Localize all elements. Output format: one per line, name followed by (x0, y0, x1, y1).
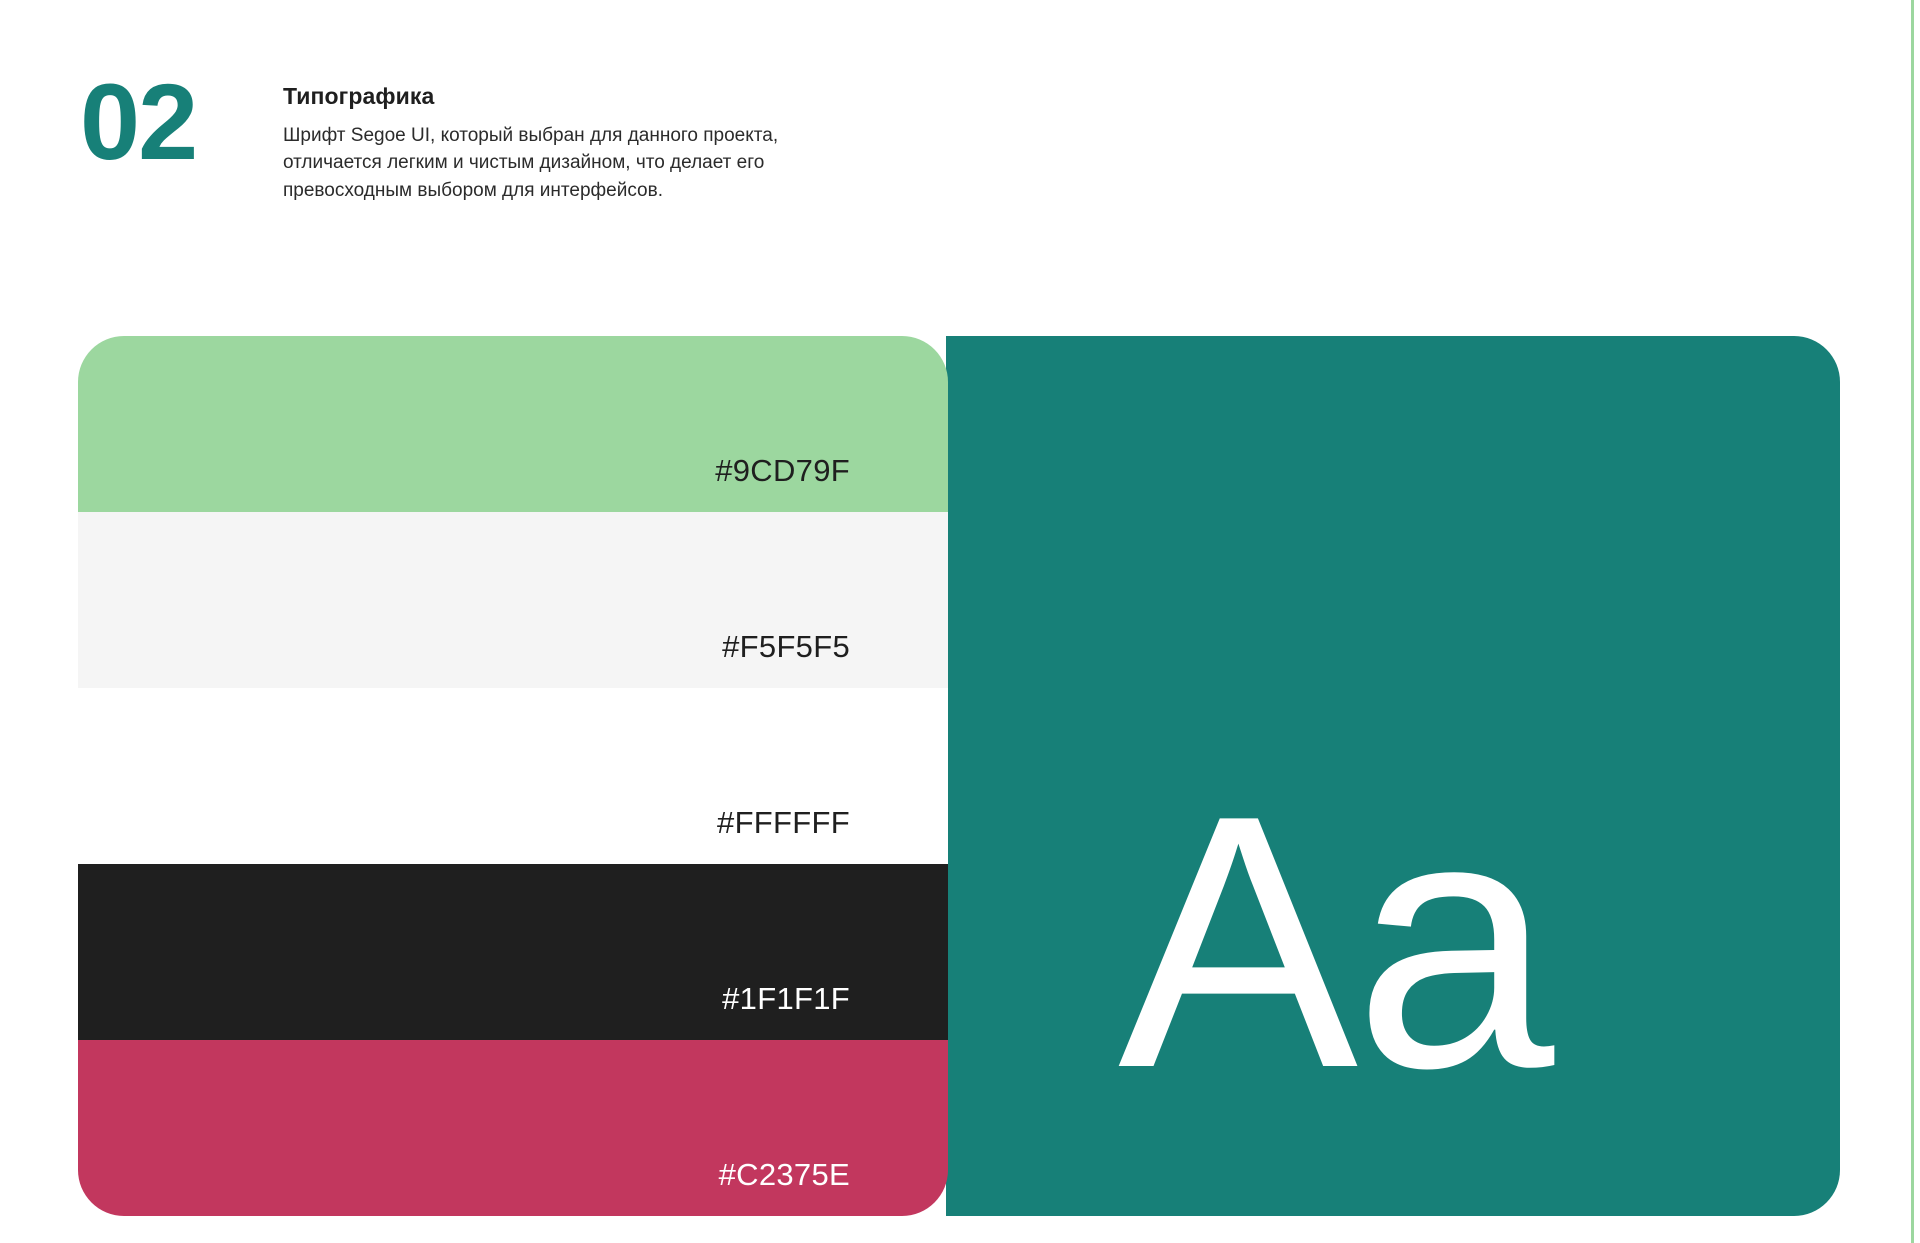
page-title: Типографика (283, 82, 803, 111)
section-header: 02 Типографика Шрифт Segoe UI, который в… (80, 68, 800, 258)
color-swatch-label: #9CD79F (715, 455, 948, 512)
right-edge-accent-rule (1911, 0, 1914, 1243)
color-swatch: #C2375E (78, 1040, 948, 1216)
section-description: Шрифт Segoe UI, который выбран для данно… (283, 122, 803, 205)
section-header-text: Типографика Шрифт Segoe UI, который выбр… (283, 82, 803, 204)
color-swatch-label: #FFFFFF (717, 807, 948, 864)
color-swatch: #9CD79F (78, 336, 948, 512)
color-swatch: #F5F5F5 (78, 512, 948, 688)
color-swatch-label: #C2375E (719, 1159, 948, 1216)
color-swatch-label: #F5F5F5 (722, 631, 948, 688)
section-number: 02 (80, 68, 196, 176)
color-palette-column: #9CD79F #F5F5F5 #FFFFFF #1F1F1F #C2375E (78, 336, 948, 1216)
color-swatch: #FFFFFF (78, 688, 948, 864)
slide-root: 02 Типографика Шрифт Segoe UI, который в… (0, 0, 1920, 1243)
color-swatch: #1F1F1F (78, 864, 948, 1040)
color-swatch-label: #1F1F1F (722, 983, 948, 1040)
palette-showcase-card: #9CD79F #F5F5F5 #FFFFFF #1F1F1F #C2375E … (78, 336, 1840, 1216)
font-specimen-glyph: Aa (1118, 788, 1550, 1098)
